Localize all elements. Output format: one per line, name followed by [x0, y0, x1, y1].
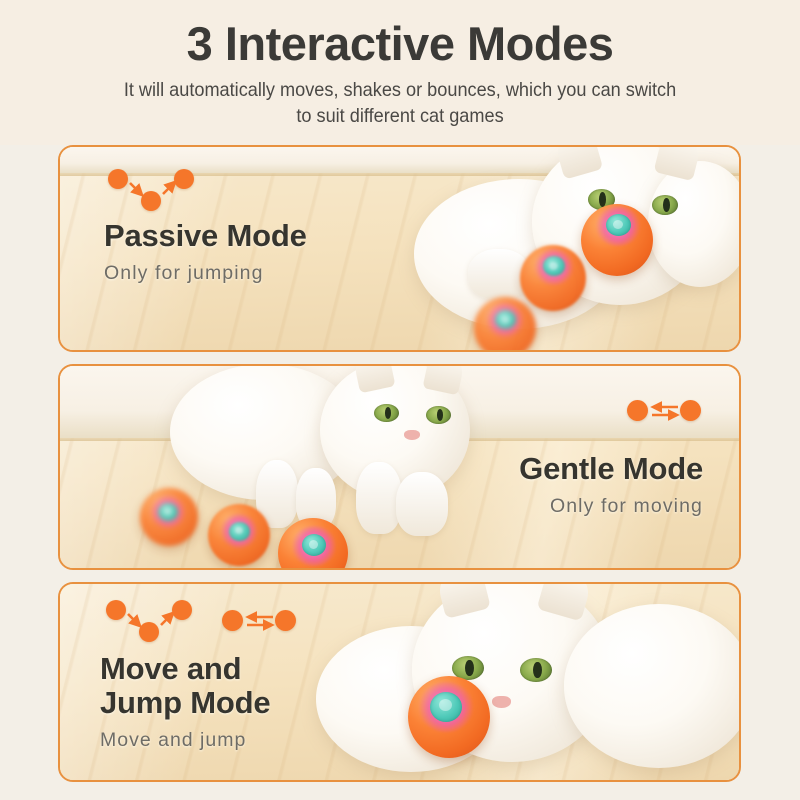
mode-icons-move-and-jump — [106, 598, 296, 644]
mode-subtitle-gentle: Only for moving — [519, 495, 703, 518]
toy-ball-trail-1 — [474, 297, 536, 352]
move-icon — [627, 398, 701, 424]
mode-panel-gentle[interactable]: Gentle Mode Only for moving — [58, 364, 741, 570]
toy-ball-trail-1 — [140, 488, 198, 546]
mode-title-line-2: Jump Mode — [100, 686, 270, 720]
page-title: 3 Interactive Modes — [0, 18, 800, 71]
mode-subtitle-move-and-jump: Move and jump — [100, 729, 270, 752]
mode-title-passive: Passive Mode — [104, 219, 307, 253]
header: 3 Interactive Modes It will automaticall… — [0, 0, 800, 145]
toy-ball-primary — [581, 204, 653, 276]
jump-icon — [106, 598, 192, 644]
toy-ball-trail-2 — [208, 504, 270, 566]
toy-ball-primary — [408, 676, 490, 758]
mode-text-gentle: Gentle Mode Only for moving — [519, 452, 703, 518]
mode-icons-passive — [108, 167, 194, 213]
cat-photo-move-and-jump — [316, 582, 741, 782]
mode-title-move-and-jump: Move and Jump Mode — [100, 652, 270, 720]
cat-photo-passive — [412, 145, 741, 348]
toy-ball-trail-2 — [520, 245, 586, 311]
page-subtitle-line-1: It will automatically moves, shakes or b… — [28, 78, 772, 104]
mode-panel-passive[interactable]: Passive Mode Only for jumping — [58, 145, 741, 352]
page-subtitle: It will automatically moves, shakes or b… — [28, 78, 772, 130]
move-icon — [222, 608, 296, 634]
mode-panel-move-and-jump[interactable]: Move and Jump Mode Move and jump — [58, 582, 741, 782]
mode-icons-gentle — [627, 398, 701, 424]
mode-title-gentle: Gentle Mode — [519, 452, 703, 486]
mode-title-line-1: Move and — [100, 652, 270, 686]
page-subtitle-line-2: to suit different cat games — [28, 104, 772, 130]
mode-text-passive: Passive Mode Only for jumping — [104, 219, 307, 285]
product-feature-graphic: 3 Interactive Modes It will automaticall… — [0, 0, 800, 800]
mode-subtitle-passive: Only for jumping — [104, 262, 307, 285]
jump-icon — [108, 167, 194, 213]
mode-text-move-and-jump: Move and Jump Mode Move and jump — [100, 652, 270, 752]
